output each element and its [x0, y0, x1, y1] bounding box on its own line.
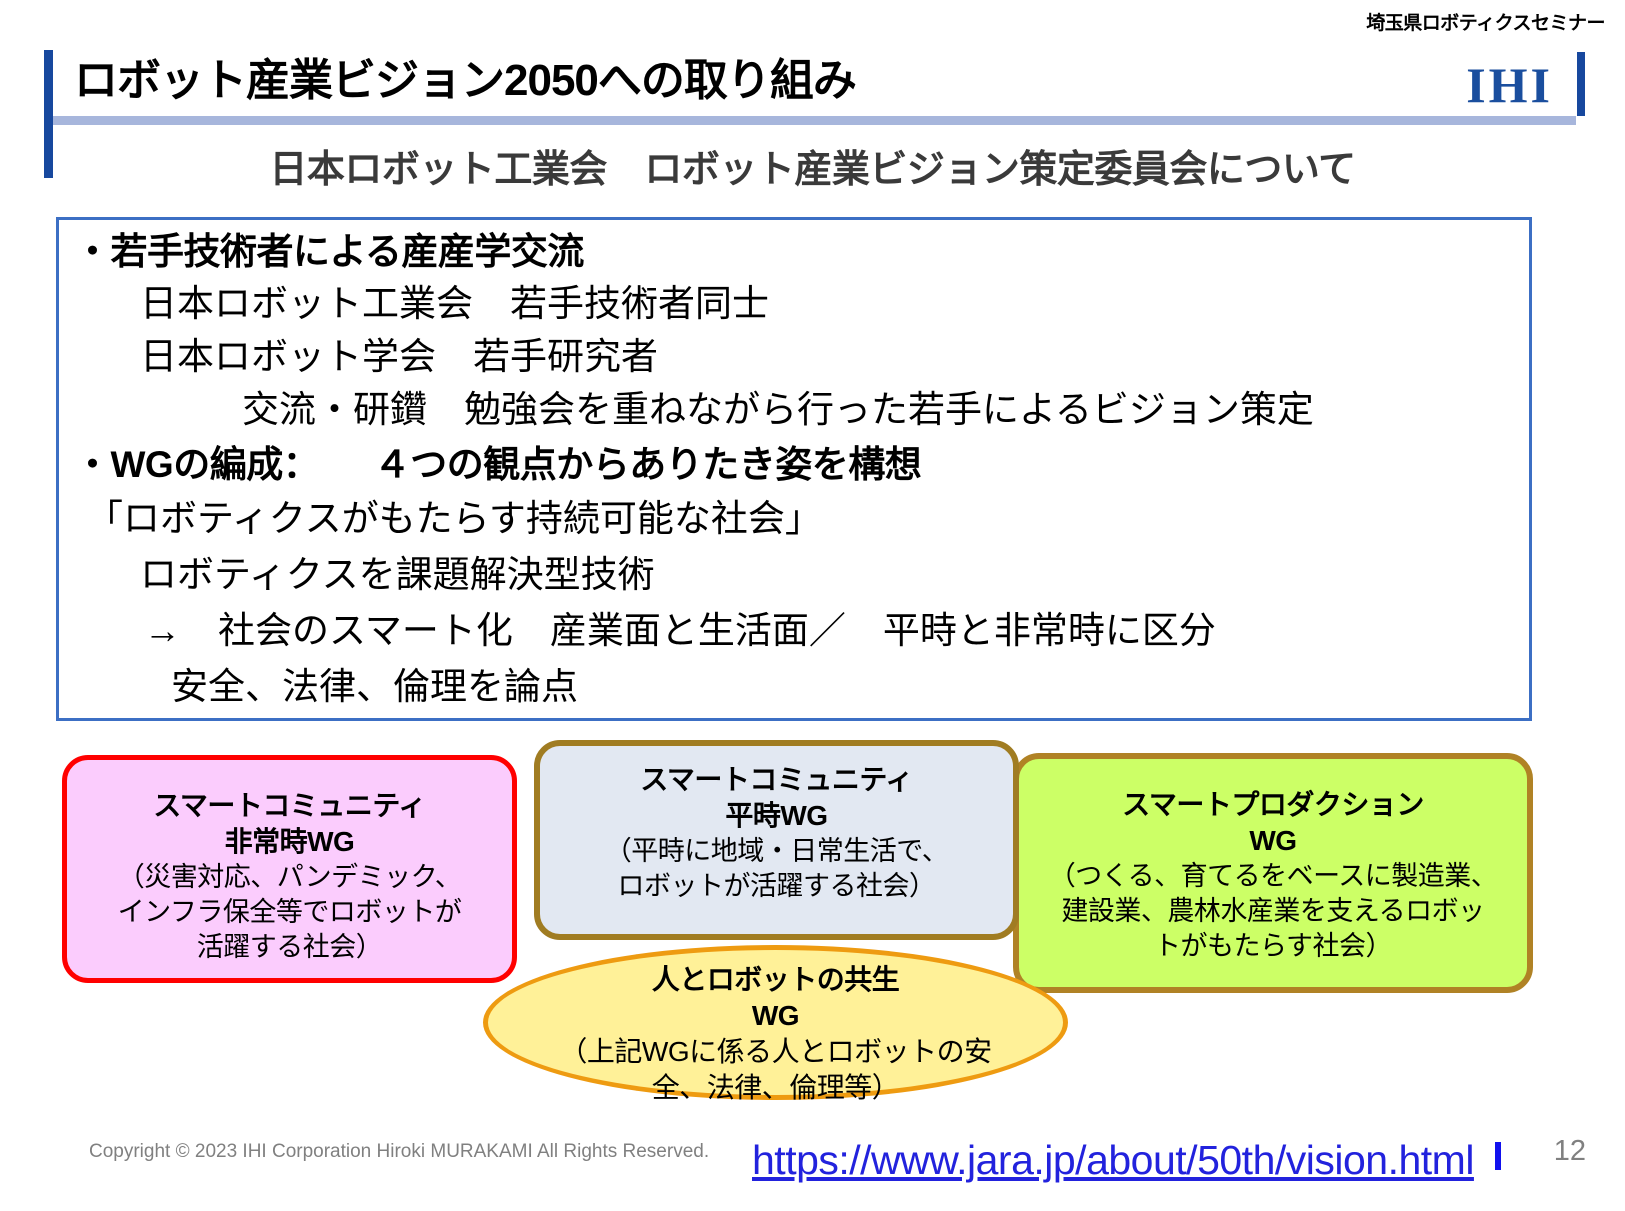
wg-description: （上記WGに係る人とロボットの安全、法律、倫理等） — [559, 1034, 991, 1106]
wg-description: （平時に地域・日常生活で、ロボットが活躍する社会） — [605, 834, 948, 904]
content-line-6: 「ロボティクスがもたらす持続可能な社会」 — [86, 500, 822, 537]
copyright-notice: Copyright © 2023 IHI Corporation Hiroki … — [89, 1141, 709, 1163]
content-line-9: 安全、法律、倫理を論点 — [171, 668, 578, 705]
wg-title: スマートコミュニティ 非常時WG — [153, 788, 425, 860]
wg-description: （つくる、育てるをベースに製造業、建設業、農林水産業を支えるロボットがもたらす社… — [1049, 859, 1498, 964]
content-line-8: → 社会のスマート化 産業面と生活面／ 平時と非常時に区分 — [144, 612, 1216, 649]
content-line-2: 日本ロボット工業会 若手技術者同士 — [140, 285, 769, 322]
wg-group-smart-community-emergency[interactable]: スマートコミュニティ 非常時WG （災害対応、パンデミック、インフラ保全等でロボ… — [62, 755, 517, 983]
title-divider-rule — [53, 116, 1576, 125]
wg-title: 人とロボットの共生 WG — [652, 962, 900, 1034]
page-subtitle: 日本ロボット工業会 ロボット産業ビジョン策定委員会について — [0, 138, 1625, 193]
content-line-7: ロボティクスを課題解決型技術 — [140, 556, 655, 593]
wg-group-human-robot-coexistence[interactable]: 人とロボットの共生 WG （上記WGに係る人とロボットの安全、法律、倫理等） — [483, 945, 1068, 1100]
wg-group-smart-community-normal[interactable]: スマートコミュニティ 平時WG （平時に地域・日常生活で、ロボットが活躍する社会… — [534, 740, 1019, 940]
wg-title-line2: WG — [752, 1000, 799, 1031]
page-number: 12 — [1554, 1135, 1586, 1168]
title-right-accent-bar — [1577, 52, 1585, 116]
content-line-3: 日本ロボット学会 若手研究者 — [140, 338, 658, 375]
content-line-5: ・WGの編成： ４つの観点からありたき姿を構想 — [74, 446, 921, 483]
footer-accent-bar — [1495, 1142, 1501, 1170]
content-line-4: 交流・研鑽 勉強会を重ねながら行った若手によるビジョン策定 — [242, 391, 1314, 428]
wg-title: スマートコミュニティ 平時WG — [640, 762, 912, 834]
page-title: ロボット産業ビジョン2050への取り組み — [74, 52, 856, 110]
content-line-1: ・若手技術者による産産学交流 — [74, 233, 584, 270]
wg-description: （災害対応、パンデミック、インフラ保全等でロボットが活躍する社会） — [118, 860, 462, 965]
wg-title-line2: 非常時WG — [225, 826, 355, 857]
seminar-label: 埼玉県ロボティクスセミナー — [1366, 8, 1605, 35]
ihi-logo: IHI — [1466, 56, 1553, 114]
wg-title-line1: スマートコミュニティ — [640, 764, 912, 795]
jara-vision-link[interactable]: https://www.jara.jp/about/50th/vision.ht… — [752, 1137, 1474, 1184]
wg-title-line2: 平時WG — [725, 800, 827, 831]
wg-title: スマートプロダクション WG — [1122, 787, 1424, 859]
wg-title-line1: スマートプロダクション — [1122, 789, 1424, 820]
wg-title-line2: WG — [1249, 825, 1296, 856]
wg-group-smart-production[interactable]: スマートプロダクション WG （つくる、育てるをベースに製造業、建設業、農林水産… — [1013, 753, 1533, 993]
wg-title-line1: 人とロボットの共生 — [652, 964, 900, 995]
wg-title-line1: スマートコミュニティ — [153, 790, 425, 821]
